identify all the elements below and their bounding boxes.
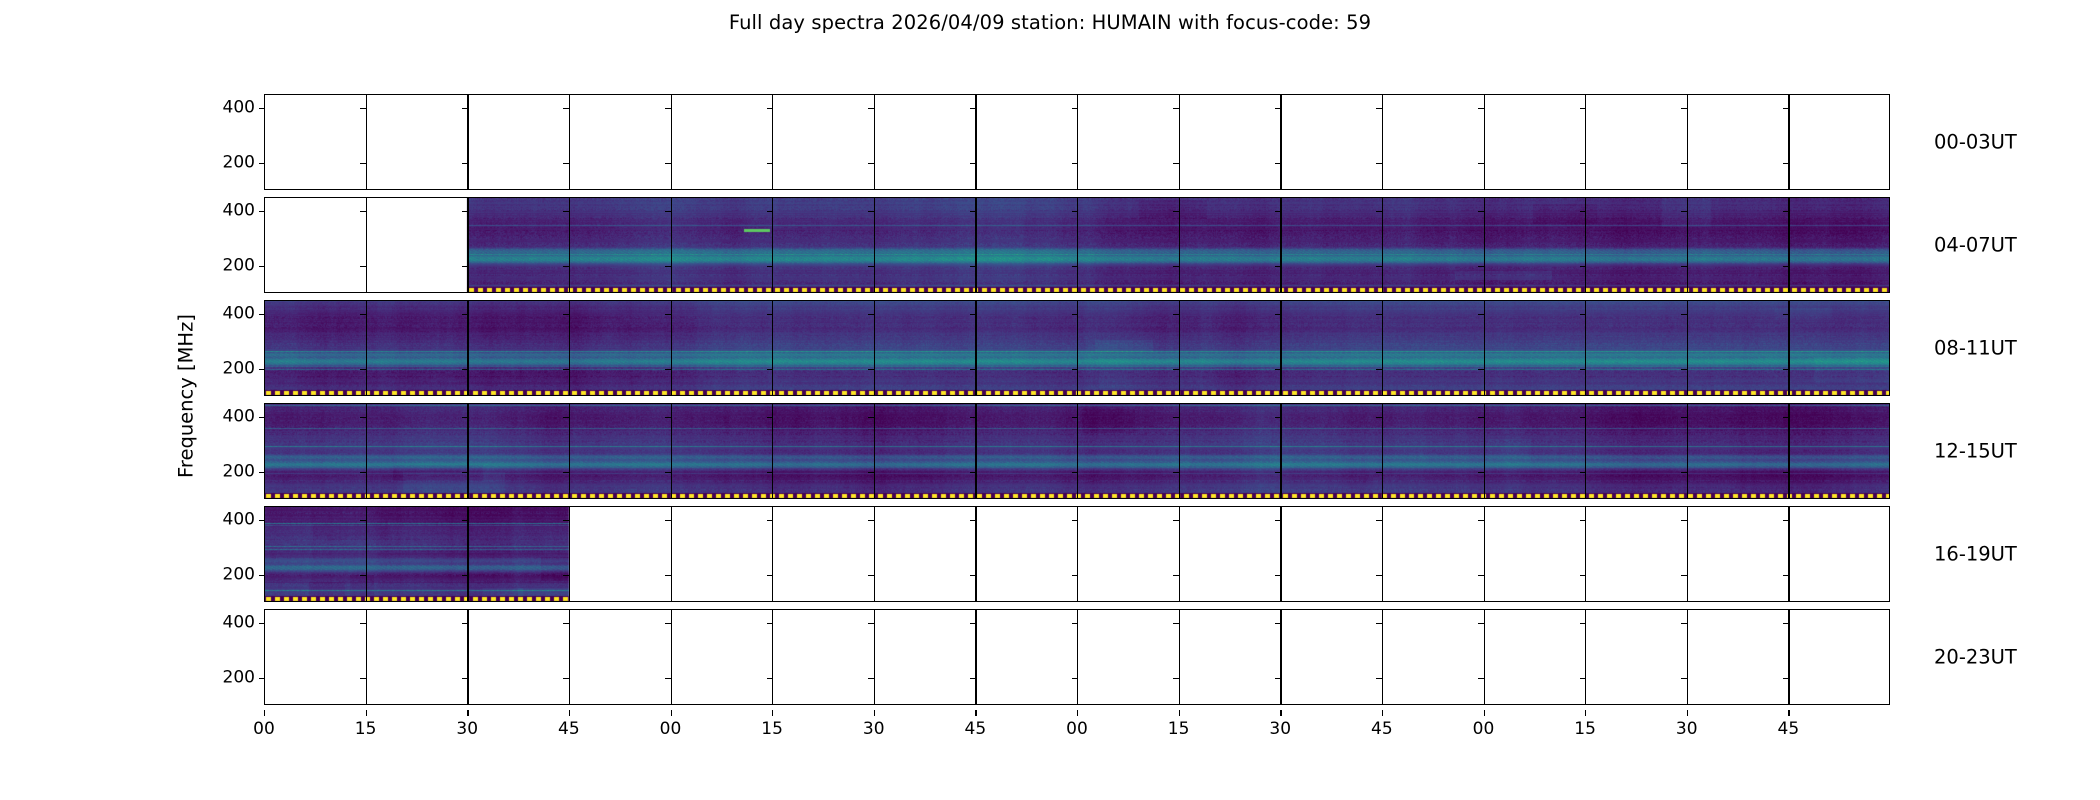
x-axis-tick-label: 00	[660, 719, 682, 739]
column-separator	[1687, 197, 1688, 293]
y-axis-tick	[259, 417, 265, 418]
column-separator	[366, 94, 367, 190]
column-separator	[671, 197, 672, 293]
x-axis-tick	[366, 710, 367, 716]
column-separator	[1179, 609, 1180, 705]
y-axis-tick-minor	[462, 163, 468, 164]
column-separator	[1077, 403, 1078, 499]
y-axis-tick-minor	[1376, 108, 1382, 109]
x-axis-tick	[1585, 710, 1586, 716]
y-axis-tick	[259, 211, 265, 212]
y-axis-tick-minor	[563, 369, 569, 370]
column-separator	[874, 197, 875, 293]
y-axis-tick-minor	[1376, 520, 1382, 521]
x-axis-tick-label: 45	[1371, 719, 1393, 739]
y-axis-tick-minor	[1072, 211, 1078, 212]
y-axis-tick-minor	[1681, 108, 1687, 109]
x-axis-tick-label: 30	[456, 719, 478, 739]
column-separator	[1382, 300, 1383, 396]
y-axis-label: Frequency [MHz]	[175, 314, 198, 478]
y-axis-tick-minor	[1681, 266, 1687, 267]
column-separator	[1280, 197, 1281, 293]
y-axis-tick-minor	[1275, 623, 1281, 624]
y-axis-tick-minor	[462, 108, 468, 109]
y-axis-tick-minor	[1275, 520, 1281, 521]
column-separator	[569, 403, 570, 499]
column-separator	[975, 506, 976, 602]
y-axis-tick-minor	[1478, 623, 1484, 624]
y-axis-tick-minor	[1072, 472, 1078, 473]
y-axis-tick-minor	[970, 417, 976, 418]
y-axis-tick-minor	[1072, 678, 1078, 679]
y-axis-tick-minor	[1376, 472, 1382, 473]
y-axis-tick-minor	[462, 623, 468, 624]
x-axis-tick-label: 00	[1473, 719, 1495, 739]
y-axis-tick-minor	[868, 163, 874, 164]
y-axis-tick	[259, 163, 265, 164]
spectrogram-row-04-07ut[interactable]: 20040004-07UT	[264, 197, 1890, 293]
spectrogram-figure: Full day spectra 2026/04/09 station: HUM…	[0, 0, 2100, 800]
y-axis-tick-minor	[360, 678, 366, 679]
y-axis-tick-minor	[563, 678, 569, 679]
y-axis-tick-minor	[970, 314, 976, 315]
column-separator	[874, 94, 875, 190]
y-axis-tick-minor	[1478, 108, 1484, 109]
y-axis-tick-minor	[1681, 369, 1687, 370]
y-axis-tick-minor	[360, 108, 366, 109]
y-axis-tick-minor	[360, 163, 366, 164]
y-axis-tick-minor	[1478, 472, 1484, 473]
column-separator	[1585, 197, 1586, 293]
y-axis-tick-minor	[462, 520, 468, 521]
y-axis-tick-label: 200	[223, 463, 255, 480]
y-axis-tick	[259, 623, 265, 624]
column-separator	[772, 403, 773, 499]
y-axis-tick-minor	[1580, 163, 1586, 164]
x-axis-tick	[671, 710, 672, 716]
y-axis-tick-label: 400	[223, 305, 255, 322]
y-axis-tick-minor	[1275, 678, 1281, 679]
y-axis-tick-minor	[1783, 623, 1789, 624]
y-axis-tick-minor	[1275, 314, 1281, 315]
column-separator	[671, 609, 672, 705]
y-axis-tick-minor	[1783, 314, 1789, 315]
y-axis-tick-minor	[1478, 163, 1484, 164]
column-separator	[1484, 506, 1485, 602]
column-separator	[1687, 403, 1688, 499]
spectrogram-row-16-19ut[interactable]: 20040016-19UT	[264, 506, 1890, 602]
y-axis-tick-minor	[970, 623, 976, 624]
y-axis-tick-minor	[868, 108, 874, 109]
y-axis-tick-minor	[563, 520, 569, 521]
spectrogram-row-12-15ut[interactable]: 20040012-15UT	[264, 403, 1890, 499]
column-separator	[1484, 403, 1485, 499]
column-separator	[1077, 609, 1078, 705]
y-axis-tick-label: 200	[223, 154, 255, 171]
column-separator	[1179, 94, 1180, 190]
x-axis-tick-label: 15	[1168, 719, 1190, 739]
column-separator	[1585, 506, 1586, 602]
column-separator	[975, 609, 976, 705]
column-separator	[1077, 94, 1078, 190]
y-axis-tick-minor	[1783, 575, 1789, 576]
column-separator	[772, 94, 773, 190]
column-separator	[1687, 94, 1688, 190]
y-axis-tick-minor	[462, 575, 468, 576]
y-axis-tick-minor	[1478, 314, 1484, 315]
column-separator	[1484, 94, 1485, 190]
y-axis-tick-minor	[1681, 472, 1687, 473]
y-axis-tick-minor	[1173, 266, 1179, 267]
column-separator	[366, 197, 367, 293]
y-axis-tick-minor	[462, 678, 468, 679]
x-axis-tick-label: 15	[355, 719, 377, 739]
column-separator	[772, 506, 773, 602]
column-separator	[1280, 506, 1281, 602]
column-separator	[1382, 94, 1383, 190]
y-axis-tick-minor	[1478, 678, 1484, 679]
y-axis-tick-minor	[360, 520, 366, 521]
y-axis-tick-minor	[868, 575, 874, 576]
column-separator	[975, 300, 976, 396]
column-separator	[1788, 403, 1789, 499]
x-axis-tick-label: 00	[1066, 719, 1088, 739]
y-axis-tick-minor	[1376, 623, 1382, 624]
y-axis-tick-minor	[1072, 369, 1078, 370]
y-axis-tick-minor	[1681, 163, 1687, 164]
y-axis-tick-minor	[767, 369, 773, 370]
column-separator	[975, 197, 976, 293]
y-axis-tick-minor	[1173, 678, 1179, 679]
y-axis-tick-minor	[868, 678, 874, 679]
y-axis-tick-minor	[1681, 211, 1687, 212]
y-axis-tick-minor	[462, 314, 468, 315]
y-axis-tick-minor	[1783, 211, 1789, 212]
x-axis-tick	[569, 710, 570, 716]
y-axis-tick-label: 400	[223, 202, 255, 219]
column-separator	[671, 94, 672, 190]
x-axis-tick	[1484, 710, 1485, 716]
y-axis-tick-minor	[1783, 108, 1789, 109]
y-axis-tick-minor	[1173, 575, 1179, 576]
y-axis-tick-minor	[462, 417, 468, 418]
y-axis-tick-minor	[1580, 108, 1586, 109]
y-axis-tick-minor	[1376, 575, 1382, 576]
x-axis-tick-label: 30	[863, 719, 885, 739]
y-axis-tick-minor	[970, 163, 976, 164]
y-axis-tick-minor	[360, 623, 366, 624]
y-axis-tick-minor	[1681, 575, 1687, 576]
y-axis-tick-minor	[868, 623, 874, 624]
column-separator	[569, 94, 570, 190]
column-separator	[1484, 197, 1485, 293]
column-separator	[1687, 300, 1688, 396]
y-axis-tick-minor	[563, 163, 569, 164]
column-separator	[975, 94, 976, 190]
y-axis-tick-minor	[1072, 163, 1078, 164]
y-axis-tick-minor	[1173, 211, 1179, 212]
column-separator	[1077, 300, 1078, 396]
y-axis-tick-minor	[868, 266, 874, 267]
y-axis-tick-minor	[665, 108, 671, 109]
y-axis-tick-minor	[767, 472, 773, 473]
y-axis-tick-minor	[1173, 472, 1179, 473]
y-axis-tick-minor	[1478, 211, 1484, 212]
x-axis-tick-label: 00	[253, 719, 275, 739]
column-separator	[569, 197, 570, 293]
x-axis-tick-label: 45	[965, 719, 987, 739]
y-axis-tick-minor	[665, 417, 671, 418]
y-axis-tick-minor	[1681, 314, 1687, 315]
column-separator	[1077, 506, 1078, 602]
y-axis-tick-minor	[767, 314, 773, 315]
y-axis-tick-minor	[1783, 266, 1789, 267]
y-axis-tick	[259, 266, 265, 267]
y-axis-tick	[259, 472, 265, 473]
x-axis-tick-label: 45	[1778, 719, 1800, 739]
x-axis-tick	[1280, 710, 1281, 716]
y-axis-tick-minor	[1681, 417, 1687, 418]
column-separator	[569, 609, 570, 705]
y-axis-tick-minor	[1072, 266, 1078, 267]
y-axis-tick-minor	[1478, 520, 1484, 521]
y-axis-tick-minor	[665, 575, 671, 576]
column-separator	[1382, 609, 1383, 705]
column-separator	[1687, 609, 1688, 705]
y-axis-tick-minor	[767, 163, 773, 164]
y-axis-tick-minor	[1072, 623, 1078, 624]
column-separator	[467, 506, 468, 602]
y-axis-tick-minor	[563, 575, 569, 576]
y-axis-tick	[259, 520, 265, 521]
row-label-04-07ut: 04-07UT	[1934, 234, 2017, 257]
x-axis-tick	[975, 710, 976, 716]
column-separator	[874, 506, 875, 602]
y-axis-tick-minor	[665, 314, 671, 315]
y-axis-tick-minor	[1681, 623, 1687, 624]
y-axis-tick-minor	[1580, 266, 1586, 267]
y-axis-tick-minor	[1376, 163, 1382, 164]
y-axis-tick-minor	[1783, 472, 1789, 473]
y-axis-tick-label: 200	[223, 360, 255, 377]
y-axis-tick-minor	[1580, 623, 1586, 624]
column-separator	[1280, 609, 1281, 705]
column-separator	[1382, 403, 1383, 499]
y-axis-tick-minor	[563, 623, 569, 624]
column-separator	[1179, 300, 1180, 396]
y-axis-tick-minor	[360, 417, 366, 418]
page-title: Full day spectra 2026/04/09 station: HUM…	[0, 11, 2100, 34]
y-axis-tick-minor	[1173, 314, 1179, 315]
column-separator	[366, 300, 367, 396]
y-axis-tick-minor	[1478, 369, 1484, 370]
y-axis-tick-minor	[1173, 163, 1179, 164]
column-separator	[874, 403, 875, 499]
column-separator	[1179, 197, 1180, 293]
y-axis-tick-minor	[767, 575, 773, 576]
y-axis-tick	[259, 369, 265, 370]
column-separator	[772, 300, 773, 396]
y-axis-tick-minor	[1783, 520, 1789, 521]
x-axis-tick	[1382, 710, 1383, 716]
y-axis-tick-minor	[970, 369, 976, 370]
y-axis-tick-minor	[767, 417, 773, 418]
y-axis-tick	[259, 108, 265, 109]
y-axis-tick-minor	[462, 472, 468, 473]
y-axis-tick-minor	[970, 472, 976, 473]
y-axis-tick-minor	[665, 369, 671, 370]
y-axis-tick-minor	[1072, 314, 1078, 315]
row-label-20-23ut: 20-23UT	[1934, 646, 2017, 669]
row-label-00-03ut: 00-03UT	[1934, 131, 2017, 154]
x-axis-tick	[1788, 710, 1789, 716]
y-axis-tick-minor	[563, 417, 569, 418]
row-label-08-11ut: 08-11UT	[1934, 337, 2017, 360]
column-separator	[1484, 609, 1485, 705]
y-axis-tick-minor	[1376, 314, 1382, 315]
y-axis-tick-minor	[1376, 266, 1382, 267]
column-separator	[671, 506, 672, 602]
column-separator	[671, 300, 672, 396]
y-axis-tick-minor	[360, 211, 366, 212]
y-axis-tick-minor	[1072, 108, 1078, 109]
y-axis-tick-minor	[360, 575, 366, 576]
y-axis-tick-minor	[970, 211, 976, 212]
column-separator	[1788, 197, 1789, 293]
y-axis-tick-minor	[563, 266, 569, 267]
y-axis-tick-minor	[665, 678, 671, 679]
y-axis-tick-minor	[1173, 108, 1179, 109]
y-axis-tick-minor	[1275, 108, 1281, 109]
x-axis-tick-label: 30	[1269, 719, 1291, 739]
x-axis-tick	[264, 710, 265, 716]
y-axis-tick	[259, 314, 265, 315]
y-axis-tick-minor	[1580, 520, 1586, 521]
y-axis-tick-minor	[462, 211, 468, 212]
column-separator	[874, 609, 875, 705]
x-axis-tick	[772, 710, 773, 716]
x-axis-tick	[1077, 710, 1078, 716]
spectrogram-row-20-23ut[interactable]: 20040020-23UT	[264, 609, 1890, 705]
y-axis-tick-label: 200	[223, 566, 255, 583]
y-axis-tick-label: 400	[223, 511, 255, 528]
column-separator	[1179, 403, 1180, 499]
y-axis-tick-minor	[1478, 417, 1484, 418]
y-axis-tick-minor	[1478, 266, 1484, 267]
y-axis-tick-minor	[1173, 369, 1179, 370]
row-label-16-19ut: 16-19UT	[1934, 543, 2017, 566]
y-axis-tick-minor	[767, 108, 773, 109]
y-axis-tick-minor	[360, 314, 366, 315]
column-separator	[467, 94, 468, 190]
x-axis-tick	[1179, 710, 1180, 716]
y-axis-tick-label: 400	[223, 614, 255, 631]
spectrogram-row-00-03ut[interactable]: 20040000-03UT	[264, 94, 1890, 190]
column-separator	[467, 609, 468, 705]
column-separator	[569, 506, 570, 602]
column-separator	[874, 300, 875, 396]
column-separator	[1280, 94, 1281, 190]
y-axis-tick-minor	[1376, 211, 1382, 212]
y-axis-tick	[259, 575, 265, 576]
y-axis-tick-minor	[1072, 417, 1078, 418]
x-axis: 00153045001530450015304500153045	[264, 710, 1890, 750]
y-axis-tick-minor	[1783, 163, 1789, 164]
column-separator	[772, 609, 773, 705]
y-axis-tick-minor	[1376, 678, 1382, 679]
y-axis-tick-minor	[665, 472, 671, 473]
y-axis-tick-minor	[665, 623, 671, 624]
x-axis-tick-label: 15	[761, 719, 783, 739]
y-axis-tick-label: 200	[223, 669, 255, 686]
y-axis-tick-minor	[1783, 417, 1789, 418]
column-separator	[1077, 197, 1078, 293]
x-axis-tick-label: 15	[1574, 719, 1596, 739]
y-axis-tick-minor	[868, 314, 874, 315]
y-axis-tick-minor	[1580, 575, 1586, 576]
y-axis-tick-minor	[1275, 163, 1281, 164]
y-axis-tick-minor	[1275, 472, 1281, 473]
y-axis-tick-minor	[563, 211, 569, 212]
column-separator	[1585, 609, 1586, 705]
y-axis-tick-minor	[665, 266, 671, 267]
y-axis-tick-minor	[970, 678, 976, 679]
y-axis-tick-minor	[665, 211, 671, 212]
column-separator	[467, 300, 468, 396]
y-axis-tick-minor	[665, 520, 671, 521]
column-separator	[1484, 300, 1485, 396]
column-separator	[1382, 506, 1383, 602]
x-axis-tick	[874, 710, 875, 716]
y-axis-tick-minor	[1173, 623, 1179, 624]
y-axis-tick-minor	[1275, 575, 1281, 576]
y-axis-tick-minor	[1275, 266, 1281, 267]
column-separator	[1585, 403, 1586, 499]
y-axis-tick-minor	[1580, 417, 1586, 418]
column-separator	[1585, 94, 1586, 190]
y-axis-tick-minor	[1275, 369, 1281, 370]
column-separator	[1179, 506, 1180, 602]
y-axis-tick-minor	[767, 211, 773, 212]
y-axis-tick-minor	[1376, 417, 1382, 418]
y-axis-tick-minor	[1580, 472, 1586, 473]
y-axis-tick-minor	[563, 472, 569, 473]
row-label-12-15ut: 12-15UT	[1934, 440, 2017, 463]
y-axis-tick-minor	[360, 266, 366, 267]
y-axis-tick-minor	[970, 108, 976, 109]
column-separator	[1687, 506, 1688, 602]
column-separator	[569, 300, 570, 396]
y-axis-tick-minor	[563, 314, 569, 315]
column-separator	[1585, 300, 1586, 396]
y-axis-tick-minor	[1478, 575, 1484, 576]
y-axis-tick-minor	[1376, 369, 1382, 370]
y-axis-tick-minor	[1580, 678, 1586, 679]
y-axis-tick-minor	[1783, 678, 1789, 679]
y-axis-tick-minor	[767, 623, 773, 624]
y-axis-tick-minor	[970, 575, 976, 576]
spectrogram-row-08-11ut[interactable]: 20040008-11UT	[264, 300, 1890, 396]
y-axis-tick-minor	[462, 266, 468, 267]
y-axis-tick-minor	[767, 520, 773, 521]
y-axis-tick-minor	[868, 369, 874, 370]
column-separator	[366, 506, 367, 602]
y-axis-tick-minor	[767, 678, 773, 679]
y-axis-tick-minor	[462, 369, 468, 370]
y-axis-tick-minor	[868, 417, 874, 418]
y-axis-tick-minor	[1072, 575, 1078, 576]
y-axis-tick-minor	[868, 520, 874, 521]
